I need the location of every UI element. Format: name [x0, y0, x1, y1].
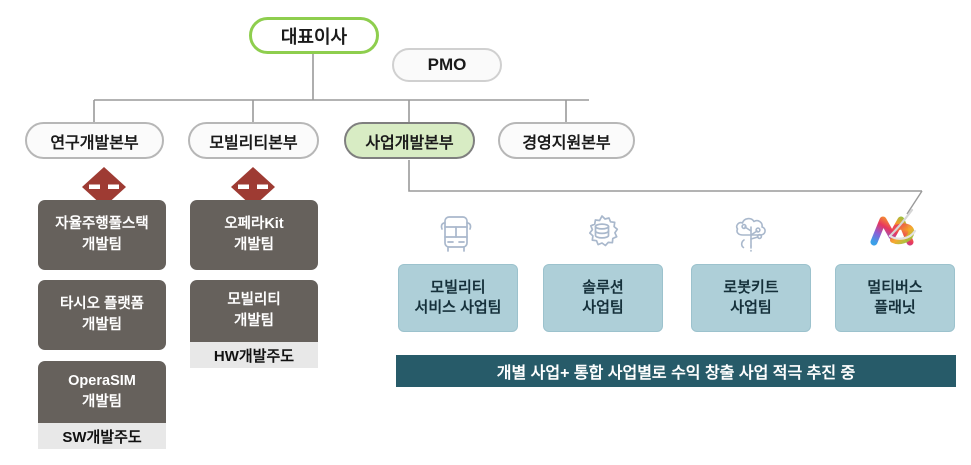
bus-icon	[436, 213, 476, 255]
team-line2: 개발팀	[234, 235, 274, 256]
team-box-operakit[interactable]: 오페라Kit 개발팀	[190, 200, 318, 270]
node-dept-management[interactable]: 경영지원본부	[498, 122, 635, 159]
team-line1: 자율주행풀스택	[55, 214, 148, 235]
business-line1: 솔루션	[582, 278, 623, 298]
team-line1: 모빌리티	[227, 290, 280, 311]
node-dept-rnd-label: 연구개발본부	[50, 129, 138, 153]
node-pmo[interactable]: PMO	[392, 48, 502, 82]
team-box-tasio-platform[interactable]: 타시오 플랫폼 개발팀	[38, 280, 166, 350]
business-line2: 사업팀	[730, 298, 771, 318]
team-line2: 개발팀	[82, 315, 122, 336]
team-line2: 개발팀	[82, 235, 122, 256]
business-box-robotkit[interactable]: 로봇키트 사업팀	[691, 264, 811, 332]
node-dept-mobility-label: 모빌리티본부	[209, 129, 297, 153]
team-line1: 오페라Kit	[224, 214, 283, 235]
database-gear-icon	[582, 213, 622, 255]
team-sublabel-sw-lead: SW개발주도	[38, 423, 166, 449]
team-box-operasim[interactable]: OperaSIM 개발팀	[38, 361, 166, 423]
team-sublabel-hw-lead: HW개발주도	[190, 342, 318, 368]
multiverse-planet-logo	[866, 206, 922, 256]
team-box-autonomous-fullstack[interactable]: 자율주행풀스택 개발팀	[38, 200, 166, 270]
node-dept-management-label: 경영지원본부	[522, 129, 610, 153]
strategy-banner-text: 개별 사업+ 통합 사업별로 수익 창출 사업 적극 추진 중	[497, 359, 855, 383]
business-line1: 멀티버스	[867, 278, 922, 298]
node-ceo-label: 대표이사	[281, 23, 347, 49]
business-line2: 플래닛	[874, 298, 915, 318]
business-box-mobility-service[interactable]: 모빌리티 서비스 사업팀	[398, 264, 518, 332]
business-line1: 모빌리티	[430, 278, 485, 298]
node-dept-rnd[interactable]: 연구개발본부	[25, 122, 164, 159]
business-box-solution[interactable]: 솔루션 사업팀	[543, 264, 663, 332]
node-dept-business-label: 사업개발본부	[365, 129, 453, 153]
team-line1: 타시오 플랫폼	[60, 294, 144, 315]
team-line2: 개발팀	[234, 311, 274, 332]
team-sublabel-text: SW개발주도	[62, 426, 141, 447]
org-chart-canvas: 대표이사 PMO 연구개발본부 모빌리티본부 사업개발본부 경영지원본부 자율주…	[0, 0, 971, 465]
team-line1: OperaSIM	[68, 371, 136, 392]
node-dept-business[interactable]: 사업개발본부	[344, 122, 475, 159]
business-line2: 서비스 사업팀	[415, 298, 502, 318]
team-line2: 개발팀	[82, 392, 122, 413]
node-pmo-label: PMO	[428, 55, 467, 75]
business-line2: 사업팀	[582, 298, 623, 318]
team-sublabel-text: HW개발주도	[214, 345, 294, 366]
business-line1: 로봇키트	[723, 278, 778, 298]
strategy-banner: 개별 사업+ 통합 사업별로 수익 창출 사업 적극 추진 중	[396, 355, 956, 387]
node-dept-mobility[interactable]: 모빌리티본부	[188, 122, 319, 159]
business-box-multiverse-planet[interactable]: 멀티버스 플래닛	[835, 264, 955, 332]
cloud-tech-tree-icon	[730, 213, 774, 255]
team-box-mobility-dev[interactable]: 모빌리티 개발팀	[190, 280, 318, 342]
node-ceo[interactable]: 대표이사	[249, 17, 379, 54]
